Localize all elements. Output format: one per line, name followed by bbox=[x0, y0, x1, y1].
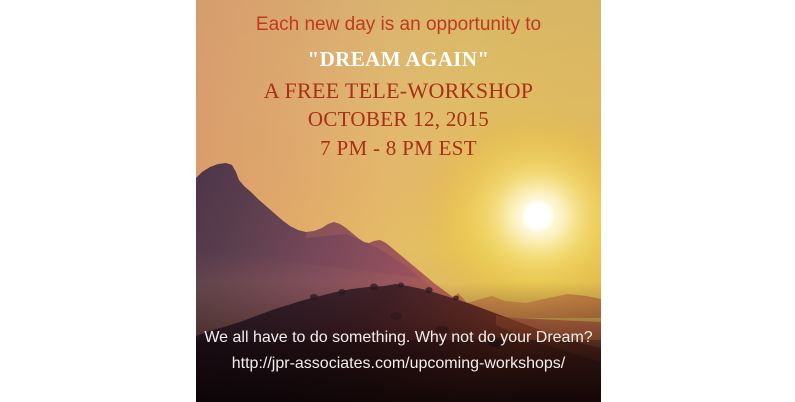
poster-canvas: Each new day is an opportunity to "DREAM… bbox=[0, 0, 795, 402]
poster-date: OCTOBER 12, 2015 bbox=[196, 108, 601, 131]
poster-subtitle: A FREE TELE-WORKSHOP bbox=[196, 79, 601, 103]
poster-time: 7 PM - 8 PM EST bbox=[196, 137, 601, 160]
poster-url[interactable]: http://jpr-associates.com/upcoming-works… bbox=[196, 355, 601, 373]
sunset-poster-image: Each new day is an opportunity to "DREAM… bbox=[196, 0, 601, 402]
poster-tagline: We all have to do something. Why not do … bbox=[196, 329, 601, 347]
poster-headline: Each new day is an opportunity to bbox=[196, 15, 601, 36]
poster-title: "DREAM AGAIN" bbox=[196, 48, 601, 71]
